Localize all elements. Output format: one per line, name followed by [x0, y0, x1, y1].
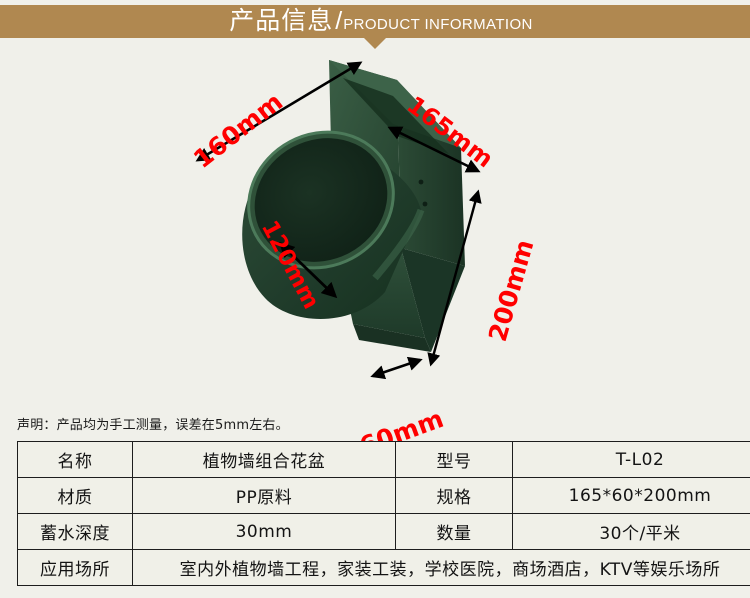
page-title-chinese: 产品信息: [229, 9, 333, 34]
table-row: 名称 植物墙组合花盆 型号 T-L02: [18, 442, 750, 478]
product-spec-table: 名称 植物墙组合花盆 型号 T-L02 材质 PP原料 规格 165*60*20…: [17, 441, 750, 586]
product-image-stage: 160mm 165mm 120mm 200mm 60mm: [0, 44, 750, 408]
spec-label-quantity: 数量: [396, 514, 513, 550]
spec-value-quantity: 30个/平米: [513, 514, 750, 550]
spec-value-application: 室内外植物墙工程，家装工装，学校医院，商场酒店，KTV等娱乐场所: [133, 550, 750, 586]
spec-label-model: 型号: [396, 442, 513, 478]
page-title-english: PRODUCT INFORMATION: [343, 17, 533, 32]
spec-value-spec: 165*60*200mm: [513, 478, 750, 514]
table-row: 应用场所 室内外植物墙工程，家装工装，学校医院，商场酒店，KTV等娱乐场所: [18, 550, 750, 586]
spec-value-name: 植物墙组合花盆: [133, 442, 396, 478]
page-title: 产品信息 / PRODUCT INFORMATION: [229, 9, 533, 34]
spec-label-water-depth: 蓄水深度: [18, 514, 133, 550]
measurement-disclaimer: 声明：产品均为手工测量，误差在5mm左右。: [17, 414, 289, 433]
spec-label-application: 应用场所: [18, 550, 133, 586]
spec-label-material: 材质: [18, 478, 133, 514]
spec-value-water-depth: 30mm: [133, 514, 396, 550]
spec-label-name: 名称: [18, 442, 133, 478]
table-row: 蓄水深度 30mm 数量 30个/平米: [18, 514, 750, 550]
spec-label-spec: 规格: [396, 478, 513, 514]
spec-value-model: T-L02: [513, 442, 750, 478]
title-separator: /: [333, 9, 343, 34]
spec-value-material: PP原料: [133, 478, 396, 514]
table-row: 材质 PP原料 规格 165*60*200mm: [18, 478, 750, 514]
page-header-banner: 产品信息 / PRODUCT INFORMATION: [0, 5, 750, 38]
